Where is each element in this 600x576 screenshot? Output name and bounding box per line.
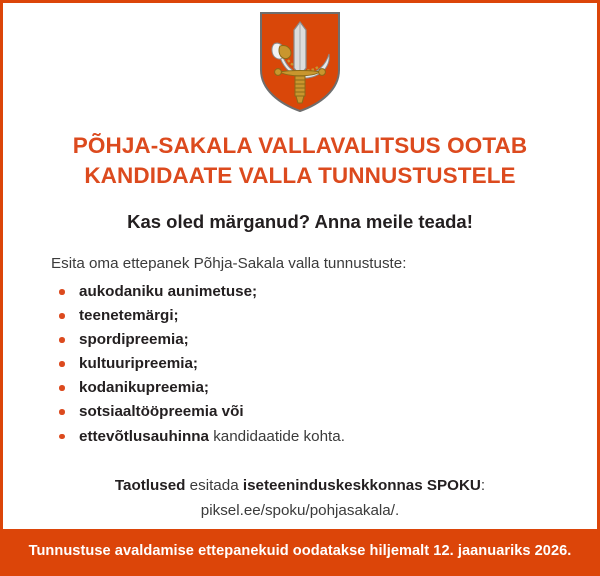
- bullet-dot-icon: [59, 385, 65, 391]
- list-item-label: teenetemärgi;: [79, 307, 179, 324]
- page-title-line-1: PÕHJA-SAKALA VALLAVALITSUS OOTAB: [3, 131, 597, 161]
- bullet-dot-icon: [59, 434, 65, 440]
- list-item: sotsiaaltööpreemia või: [3, 400, 597, 424]
- apply-colon: :: [481, 477, 485, 494]
- list-item-label: aukodaniku aunimetuse;: [79, 283, 257, 300]
- award-categories-list: aukodaniku aunimetuse; teenetemärgi; spo…: [3, 280, 597, 449]
- application-instructions: Taotlused esitada iseteeninduskeskkonnas…: [3, 474, 597, 523]
- bullet-dot-icon: [59, 409, 65, 415]
- crest-container: [3, 3, 597, 114]
- announcement-poster: PÕHJA-SAKALA VALLAVALITSUS OOTAB KANDIDA…: [0, 0, 600, 576]
- list-item: aukodaniku aunimetuse;: [3, 280, 597, 304]
- apply-portal-name: iseteeninduskeskkonnas SPOKU: [243, 477, 481, 494]
- list-item-suffix: kandidaatide kohta.: [209, 428, 345, 445]
- deadline-text: Tunnustuse avaldamise ettepanekuid oodat…: [29, 543, 572, 559]
- bullet-dot-icon: [59, 361, 65, 367]
- list-item-label: kultuuripreemia;: [79, 355, 198, 372]
- list-item: spordipreemia;: [3, 328, 597, 352]
- deadline-banner: Tunnustuse avaldamise ettepanekuid oodat…: [3, 529, 597, 573]
- subtitle: Kas oled märganud? Anna meile teada!: [3, 210, 597, 234]
- list-item: teenetemärgi;: [3, 304, 597, 328]
- page-title: PÕHJA-SAKALA VALLAVALITSUS OOTAB KANDIDA…: [3, 131, 597, 191]
- list-item: ettevõtlusauhinna kandidaatide kohta.: [3, 425, 597, 449]
- list-item-label: sotsiaaltööpreemia või: [79, 403, 244, 420]
- apply-bold-lead: Taotlused: [115, 477, 186, 494]
- list-item: kodanikupreemia;: [3, 376, 597, 400]
- pohja-sakala-coat-of-arms-icon: [258, 10, 342, 114]
- spoku-portal-url[interactable]: piksel.ee/spoku/pohjasakala/.: [3, 499, 597, 523]
- bullet-dot-icon: [59, 313, 65, 319]
- apply-mid-text: esitada: [185, 477, 242, 494]
- list-item-label: kodanikupreemia;: [79, 379, 209, 396]
- list-item-label: ettevõtlusauhinna: [79, 428, 209, 445]
- bullet-dot-icon: [59, 289, 65, 295]
- page-title-line-2: KANDIDAATE VALLA TUNNUSTUSTELE: [3, 161, 597, 191]
- intro-text: Esita oma ettepanek Põhja-Sakala valla t…: [3, 254, 597, 274]
- bullet-dot-icon: [59, 337, 65, 343]
- list-item-label: spordipreemia;: [79, 331, 189, 348]
- list-item: kultuuripreemia;: [3, 352, 597, 376]
